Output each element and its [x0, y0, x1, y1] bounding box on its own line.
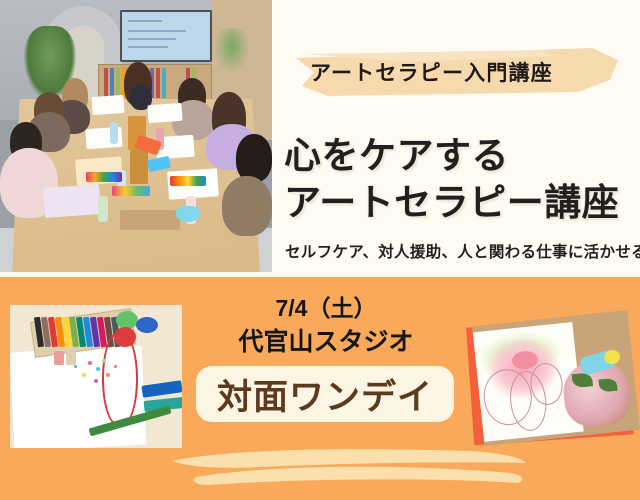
workshop-group-photo	[0, 0, 272, 272]
format-badge-label: 対面ワンデイ	[217, 369, 433, 420]
art-supplies-photo	[10, 305, 182, 448]
page-title: 心をケアする アートセラピー講座	[284, 132, 634, 227]
bottom-brush-stroke	[170, 447, 530, 489]
event-date: 7/4（土）	[186, 289, 466, 323]
yarn-blue	[136, 317, 158, 333]
photo-tv-screen	[120, 10, 212, 62]
title-line-1: 心をケアする	[284, 132, 634, 179]
title-line-2: アートセラピー講座	[284, 179, 634, 226]
event-venue: 代官山スタジオ	[186, 322, 466, 358]
flyer-canvas: アートセラピー入門講座 心をケアする アートセラピー講座 セルフケア、対人援助、…	[0, 0, 640, 500]
photo-plant-hanging	[214, 28, 250, 74]
format-badge: 対面ワンデイ	[196, 366, 454, 422]
red-string-loop	[102, 333, 138, 425]
kicker-text: アートセラピー入門講座	[310, 57, 553, 87]
participant-artwork-photo	[472, 310, 640, 446]
subtitle-text: セルフケア、対人援助、人と関わる仕事に活かせる	[285, 240, 640, 262]
